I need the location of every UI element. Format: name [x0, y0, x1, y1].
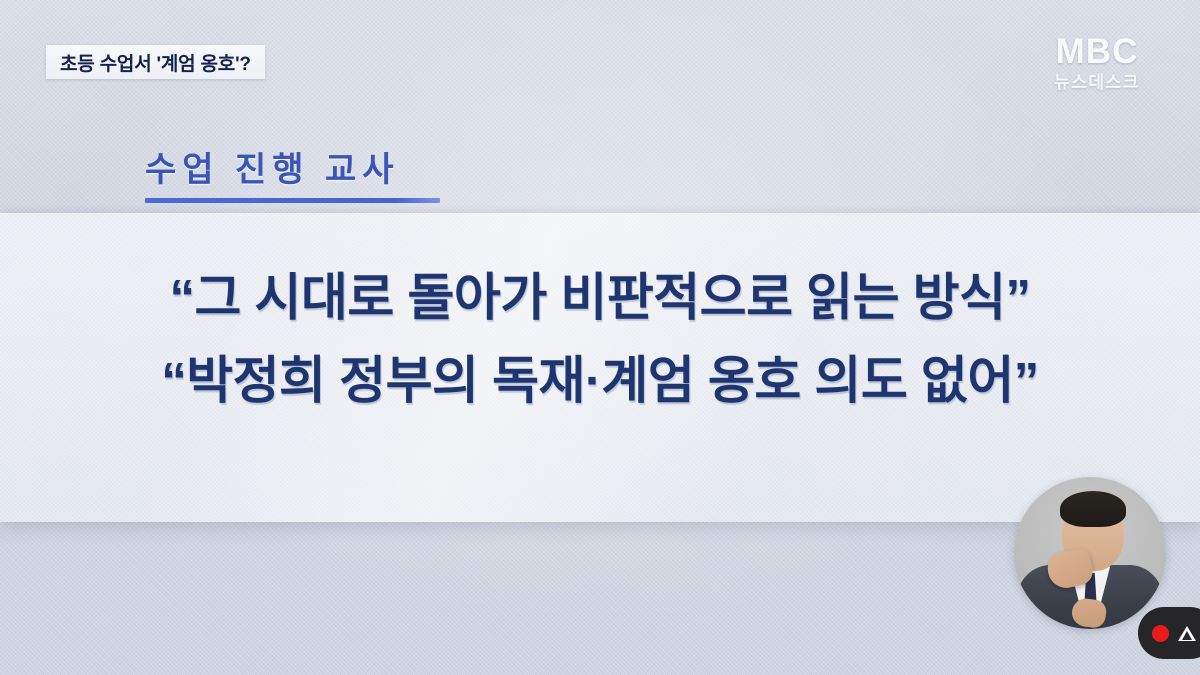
headline-text: 초등 수업서 '계엄 옹호'?	[60, 49, 251, 76]
broadcast-screen: 초등 수업서 '계엄 옹호'? MBC 뉴스데스크 수업 진행 교사 “그 시대…	[0, 0, 1200, 675]
subtitle-block: 수업 진행 교사	[145, 152, 440, 203]
subtitle-underline	[145, 198, 440, 203]
quote-block: “그 시대로 돌아가 비판적으로 읽는 방식” “박정희 정부의 독재·계엄 옹…	[0, 272, 1200, 406]
program-name-label: 뉴스데스크	[1022, 74, 1172, 91]
sign-language-interpreter-inset	[1014, 477, 1166, 629]
quote-line-2: “박정희 정부의 독재·계엄 옹호 의도 없어”	[0, 355, 1200, 406]
headline-banner: 초등 수업서 '계엄 옹호'?	[46, 45, 265, 79]
quote-line-1: “그 시대로 돌아가 비판적으로 읽는 방식”	[0, 272, 1200, 323]
broadcast-signal-icon	[1177, 625, 1197, 642]
subtitle-label: 수업 진행 교사	[145, 152, 440, 189]
interpreter-figure	[1014, 477, 1166, 629]
mbc-logo-icon: MBC	[1022, 34, 1172, 69]
interpreter-hair	[1060, 491, 1126, 527]
network-logo: MBC 뉴스데스크	[1022, 34, 1172, 91]
